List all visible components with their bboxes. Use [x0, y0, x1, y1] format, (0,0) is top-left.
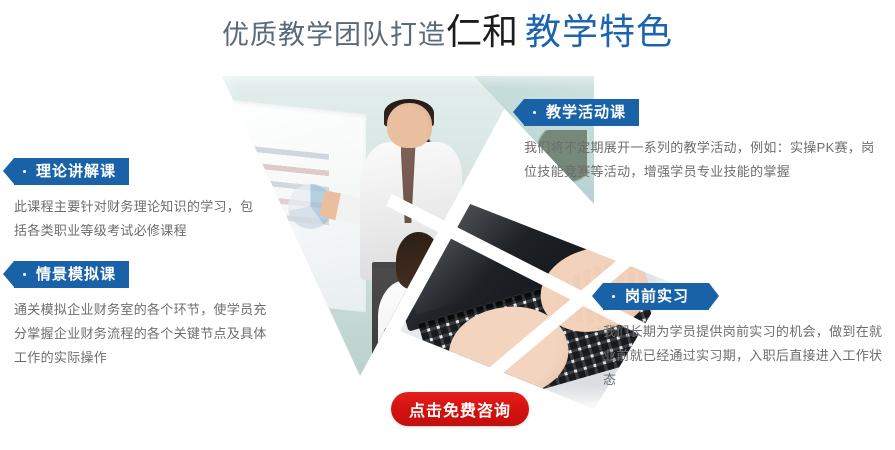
feature-description: 我们长期为学员提供岗前实习的机会，做到在就业前就已经通过实习期，入职后直接进入工…: [603, 320, 883, 392]
free-consultation-button[interactable]: 点击免费咨询: [391, 392, 529, 426]
feature-tag-theory[interactable]: 理论讲解课: [14, 158, 129, 185]
feature-description: 我们将不定期展开一系列的教学活动，例如：实操PK赛，岗位技能竞赛等活动，增强学员…: [524, 136, 884, 184]
bullet-dot-icon: [612, 295, 615, 298]
feature-block-simulation: 情景模拟课 通关模拟企业财务室的各个环节，使学员充分掌握企业财务流程的各个关键节…: [14, 261, 276, 370]
feature-block-theory: 理论讲解课 此课程主要针对财务理论知识的学习，包括各类职业等级考试必修课程: [14, 158, 260, 243]
feature-tag-label: 教学活动课: [546, 104, 626, 121]
feature-tag-label: 岗前实习: [625, 288, 689, 305]
page-title: 优质教学团队打造仁和教学特色: [0, 14, 895, 50]
feature-tag-activity[interactable]: 教学活动课: [524, 99, 639, 126]
feature-tag-label: 理论讲解课: [36, 163, 116, 180]
feature-description: 此课程主要针对财务理论知识的学习，包括各类职业等级考试必修课程: [14, 195, 260, 243]
feature-block-activity: 教学活动课 我们将不定期展开一系列的教学活动，例如：实操PK赛，岗位技能竞赛等活…: [524, 99, 884, 184]
title-suffix: 教学特色: [525, 11, 673, 52]
bullet-dot-icon: [23, 170, 26, 173]
feature-tag-internship[interactable]: 岗前实习: [603, 283, 709, 310]
feature-block-internship: 岗前实习 我们长期为学员提供岗前实习的机会，做到在就业前就已经通过实习期，入职后…: [603, 283, 883, 392]
feature-tag-label: 情景模拟课: [36, 266, 116, 283]
feature-tag-simulation[interactable]: 情景模拟课: [14, 261, 129, 288]
promo-banner: 优质教学团队打造仁和教学特色: [0, 0, 895, 450]
title-brand: 仁和: [446, 11, 518, 52]
feature-description: 通关模拟企业财务室的各个环节，使学员充分掌握企业财务流程的各个关键节点及具体工作…: [14, 298, 276, 370]
title-prefix: 优质教学团队打造: [222, 20, 446, 50]
bullet-dot-icon: [23, 273, 26, 276]
bullet-dot-icon: [533, 111, 536, 114]
